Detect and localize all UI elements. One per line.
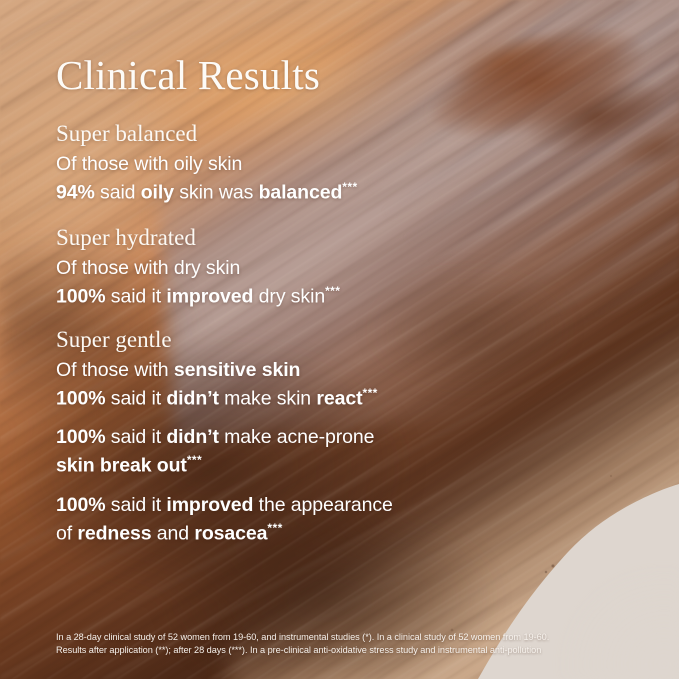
section-line: skin break out*** bbox=[56, 452, 374, 480]
plain-text: Of those with bbox=[56, 359, 174, 381]
plain-text: make skin bbox=[219, 387, 317, 409]
section-line: of redness and rosacea*** bbox=[56, 520, 393, 548]
section-acne: 100% said it didn’t make acne-prone skin… bbox=[56, 424, 374, 480]
section-line: 100% said it didn’t make skin react*** bbox=[56, 385, 378, 413]
emphasis-text: 100% bbox=[56, 285, 105, 307]
plain-text: skin was bbox=[174, 181, 259, 203]
footnote-line-2: Results after application (**); after 28… bbox=[56, 644, 656, 657]
footnote-marker: *** bbox=[325, 284, 340, 298]
footnote-marker: *** bbox=[342, 180, 357, 194]
emphasis-text: skin break out bbox=[56, 454, 187, 476]
section-balanced: Super balanced Of those with oily skin 9… bbox=[56, 120, 358, 207]
emphasis-text: redness bbox=[77, 522, 151, 544]
plain-text: the appearance bbox=[253, 494, 392, 516]
plain-text: make acne-prone bbox=[219, 426, 375, 448]
section-line: Of those with dry skin bbox=[56, 255, 340, 283]
section-heading: Super balanced bbox=[56, 120, 358, 148]
section-heading: Super gentle bbox=[56, 326, 378, 354]
clinical-results-card: Clinical Results Super balanced Of those… bbox=[0, 0, 679, 679]
section-line: Of those with sensitive skin bbox=[56, 357, 378, 385]
section-line: 100% said it improved the appearance bbox=[56, 492, 393, 520]
emphasis-text: improved bbox=[166, 494, 253, 516]
emphasis-text: balanced bbox=[259, 181, 343, 203]
plain-text: Of those with dry skin bbox=[56, 257, 240, 279]
plain-text: Of those with oily skin bbox=[56, 153, 242, 175]
emphasis-text: 100% bbox=[56, 426, 105, 448]
plain-text: said bbox=[95, 181, 141, 203]
plain-text: and bbox=[151, 522, 194, 544]
emphasis-text: improved bbox=[166, 285, 253, 307]
plain-text: said it bbox=[105, 494, 166, 516]
plain-text: dry skin bbox=[253, 285, 325, 307]
section-line: 100% said it didn’t make acne-prone bbox=[56, 424, 374, 452]
footnote-marker: *** bbox=[187, 453, 202, 467]
emphasis-text: didn’t bbox=[166, 426, 218, 448]
page-title: Clinical Results bbox=[56, 54, 320, 97]
footnote-line-1: In a 28-day clinical study of 52 women f… bbox=[56, 631, 656, 644]
section-hydrated: Super hydrated Of those with dry skin 10… bbox=[56, 224, 340, 311]
section-line: Of those with oily skin bbox=[56, 151, 358, 179]
section-line: 94% said oily skin was balanced*** bbox=[56, 179, 358, 207]
emphasis-text: oily bbox=[141, 181, 174, 203]
emphasis-text: 94% bbox=[56, 181, 95, 203]
emphasis-text: rosacea bbox=[194, 522, 267, 544]
footnote-marker: *** bbox=[267, 521, 282, 535]
emphasis-text: 100% bbox=[56, 494, 105, 516]
footnote-marker: *** bbox=[362, 386, 377, 400]
section-gentle: Super gentle Of those with sensitive ski… bbox=[56, 326, 378, 413]
emphasis-text: didn’t bbox=[166, 387, 218, 409]
plain-text: of bbox=[56, 522, 77, 544]
section-line: 100% said it improved dry skin*** bbox=[56, 283, 340, 311]
emphasis-text: 100% bbox=[56, 387, 105, 409]
plain-text: said it bbox=[105, 387, 166, 409]
emphasis-text: react bbox=[316, 387, 362, 409]
plain-text: said it bbox=[105, 285, 166, 307]
section-redness: 100% said it improved the appearance of … bbox=[56, 492, 393, 548]
plain-text: said it bbox=[105, 426, 166, 448]
section-heading: Super hydrated bbox=[56, 224, 340, 252]
emphasis-text: sensitive skin bbox=[174, 359, 301, 381]
footnote-disclaimer: In a 28-day clinical study of 52 women f… bbox=[56, 631, 656, 657]
